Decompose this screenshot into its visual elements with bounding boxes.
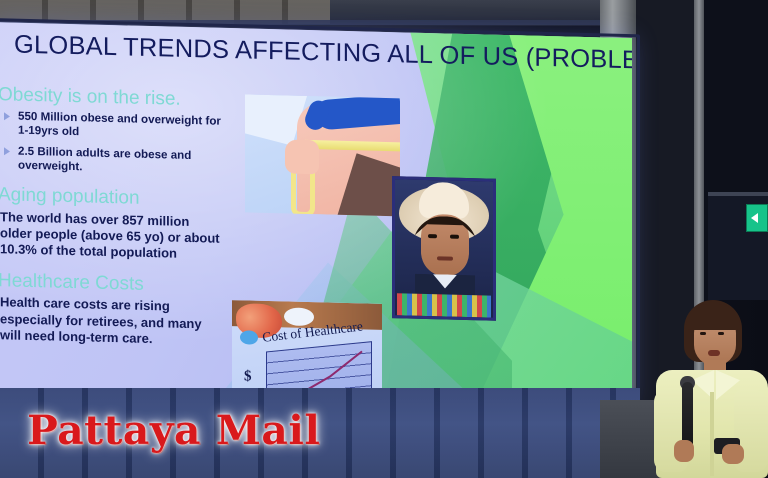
- section-heading-healthcare: Healthcare Costs: [0, 270, 224, 297]
- photo-striped-garment: [397, 293, 491, 317]
- bullet-text: 2.5 Billion adults are obese and overwei…: [18, 145, 191, 174]
- presenter-mouth: [708, 350, 720, 356]
- bullet-triangle-icon: [4, 147, 10, 155]
- photo-eye-left: [428, 234, 437, 238]
- elderly-woman-photo: [392, 176, 496, 321]
- bullet-triangle-icon: [4, 112, 10, 120]
- obesity-bullet-list: 550 Million obese and overweight for 1-1…: [0, 109, 224, 178]
- illustration-hand: [285, 139, 319, 174]
- section-body-aging: The world has over 857 million older peo…: [0, 209, 224, 263]
- chart-y-axis-label: $: [244, 368, 252, 385]
- presentation-slide: GLOBAL TRENDS AFFECTING ALL OF US (PROBL…: [0, 22, 632, 406]
- presenter-hand-right: [722, 444, 744, 464]
- screenshot-stage: GLOBAL TRENDS AFFECTING ALL OF US (PROBL…: [0, 0, 768, 478]
- slide-text-column: Obesity is on the rise. 550 Million obes…: [0, 84, 224, 349]
- list-item: 2.5 Billion adults are obese and overwei…: [0, 144, 224, 178]
- obesity-illustration-image: [245, 94, 400, 216]
- exit-sign-icon: [746, 204, 768, 232]
- watermark: Pattaya Mail: [30, 398, 310, 462]
- watermark-text: Pattaya Mail: [27, 407, 320, 454]
- projection-screen: GLOBAL TRENDS AFFECTING ALL OF US (PROBL…: [0, 22, 632, 406]
- presenter-button-placket: [710, 392, 714, 476]
- presenter-hand-left: [674, 440, 694, 462]
- presenter-hair-front: [686, 304, 740, 330]
- list-item: 550 Million obese and overweight for 1-1…: [0, 109, 224, 143]
- presenter-eye-right: [718, 332, 724, 335]
- presenter-eye-left: [700, 332, 706, 335]
- section-heading-aging: Aging population: [0, 184, 224, 211]
- section-body-healthcare: Health care costs are rising especially …: [0, 294, 224, 348]
- photo-eye-right: [450, 235, 459, 239]
- presenter: [636, 296, 768, 478]
- section-heading-obesity: Obesity is on the rise.: [0, 84, 224, 111]
- chart-photo-pill-blue: [240, 330, 258, 344]
- bullet-text: 550 Million obese and overweight for 1-1…: [18, 109, 221, 138]
- photo-mouth: [437, 256, 453, 260]
